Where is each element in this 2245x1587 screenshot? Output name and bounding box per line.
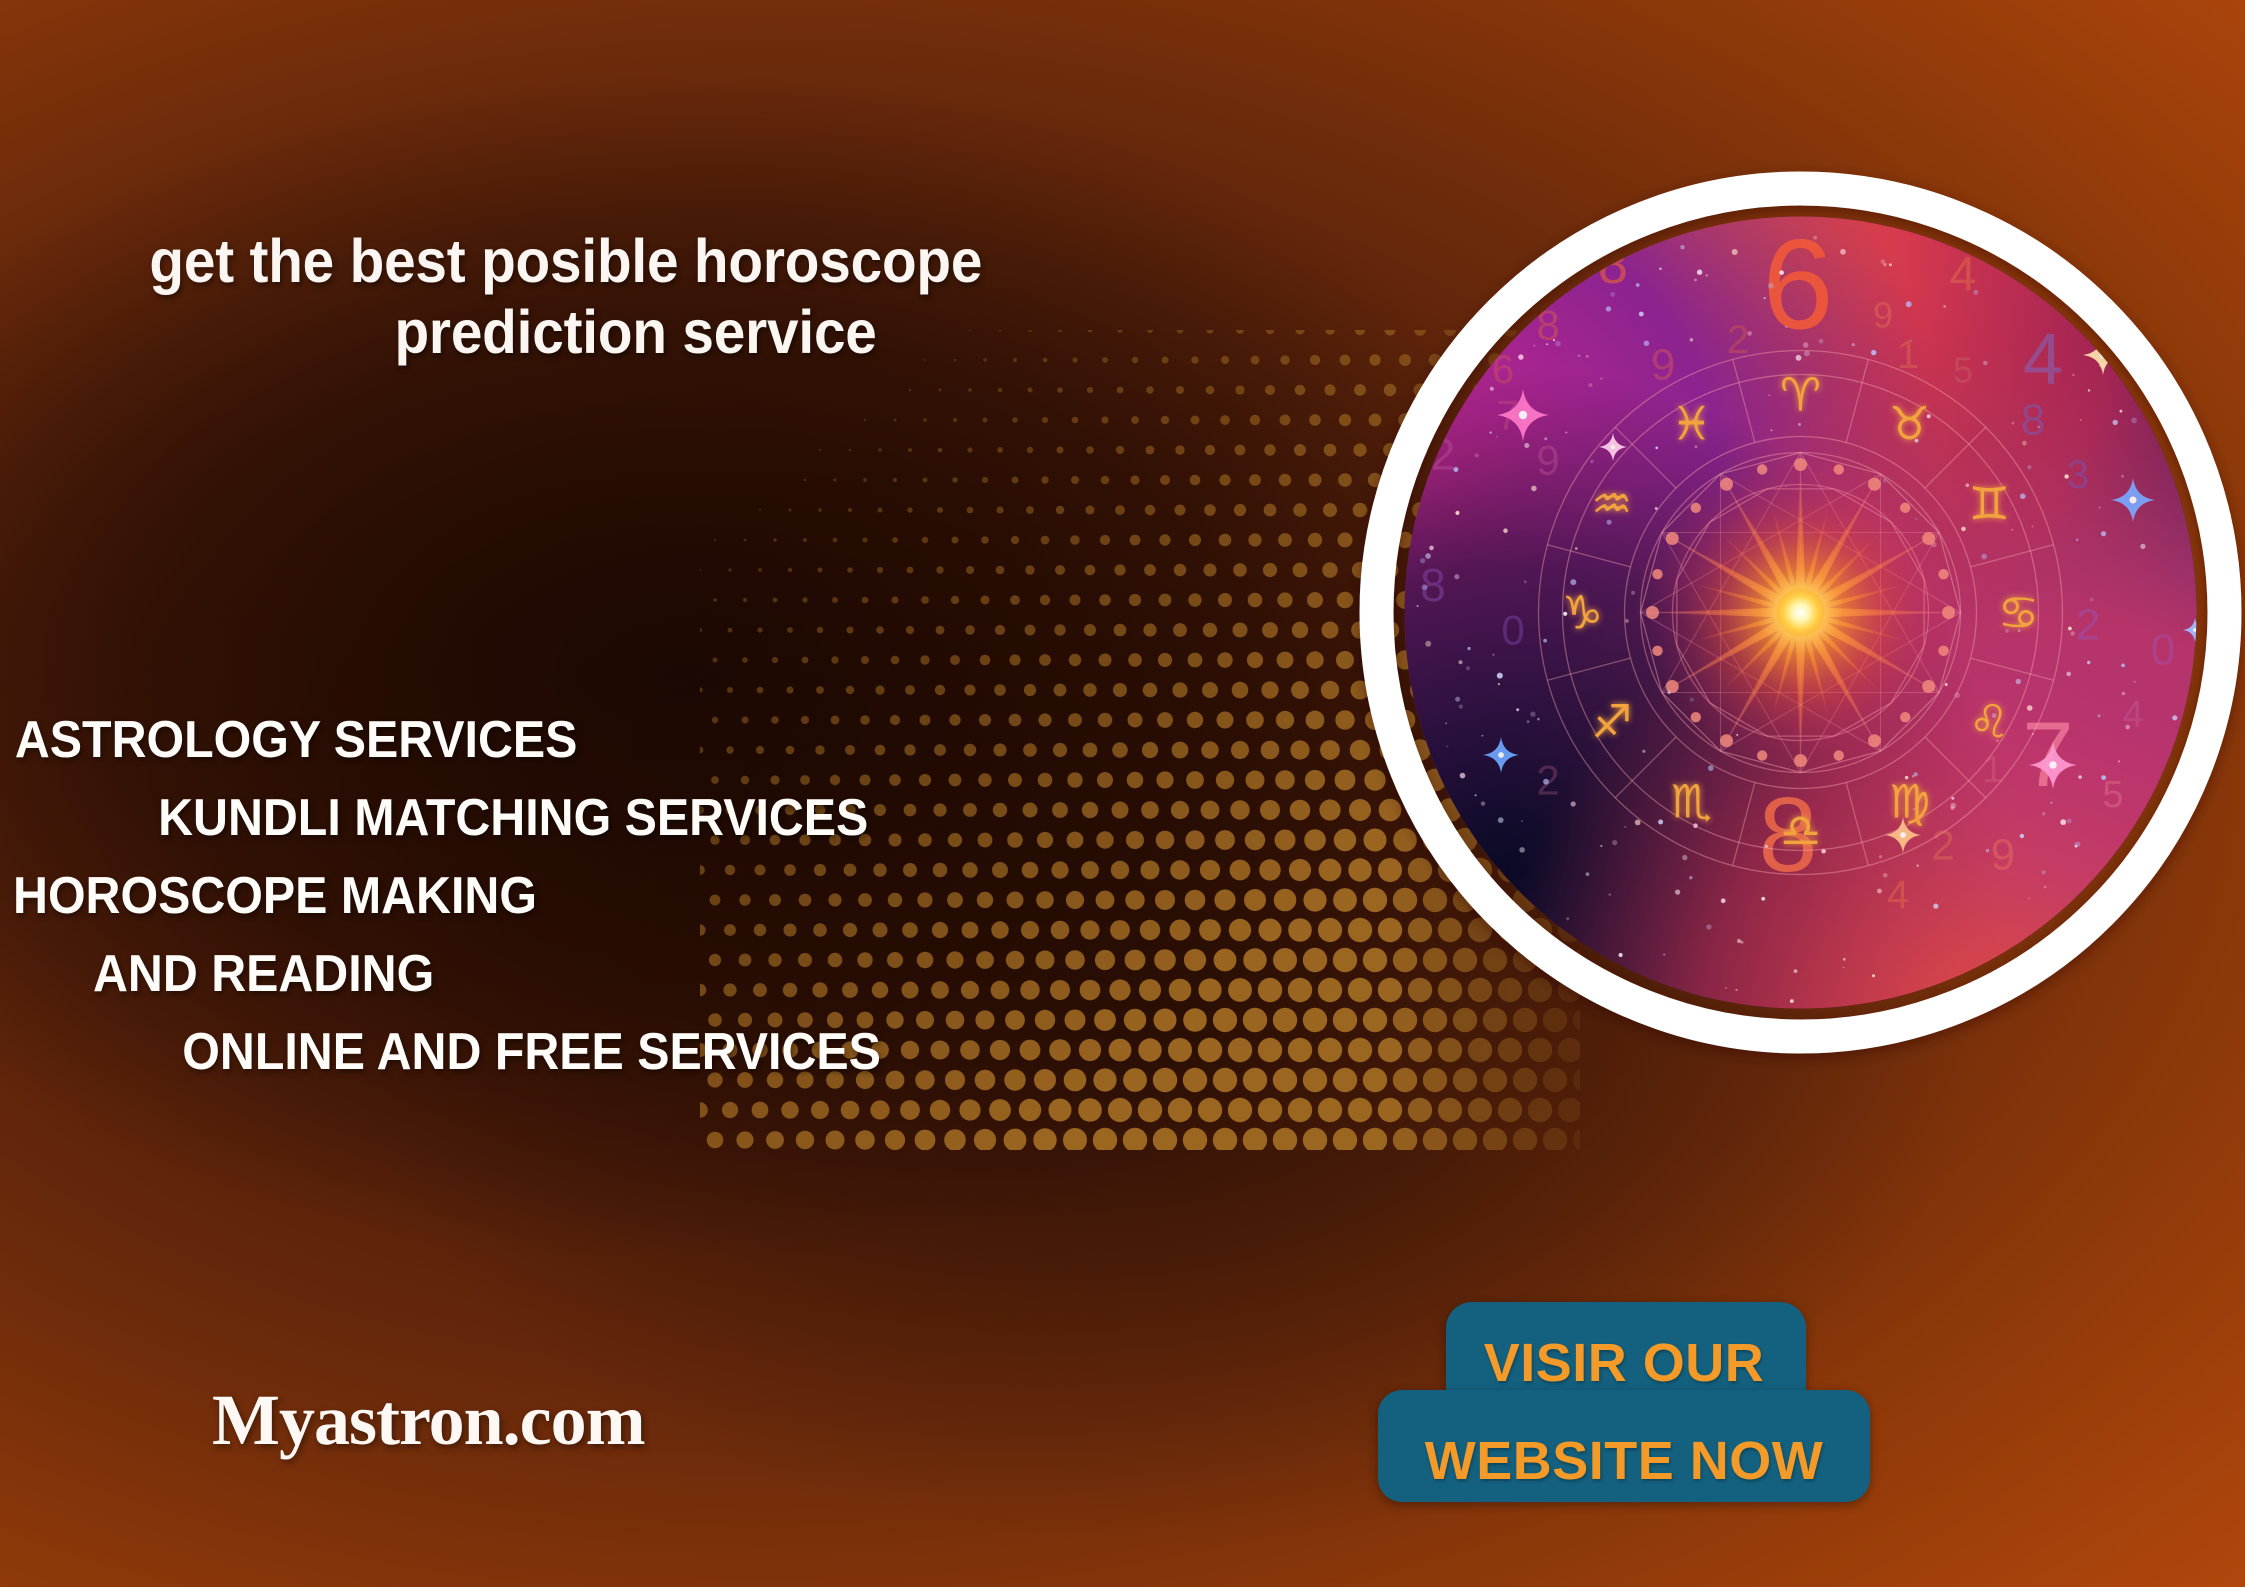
service-item-horoscope-making: HOROSCOPE MAKING bbox=[0, 870, 1042, 922]
zodiac-glyph-aquarius: ♒ bbox=[1591, 477, 1632, 531]
svg-text:5: 5 bbox=[1953, 350, 1973, 391]
zodiac-wheel: 86489216954782938020217829454 bbox=[1343, 155, 2245, 1070]
svg-text:4: 4 bbox=[1950, 249, 1977, 302]
zodiac-glyph-pisces: ♓ bbox=[1671, 397, 1712, 451]
zodiac-glyph-cancer: ♋ bbox=[1998, 586, 2039, 640]
zodiac-glyph-sagittarius: ♐ bbox=[1591, 695, 1632, 749]
zodiac-glyph-virgo: ♍ bbox=[1889, 774, 1930, 828]
zodiac-glyph-leo: ♌ bbox=[1969, 695, 2010, 749]
zodiac-glyph-libra: ♎ bbox=[1780, 804, 1821, 858]
wheel-sun-core bbox=[1777, 589, 1825, 637]
headline-line-1: get the best posible horoscope bbox=[52, 226, 1080, 297]
svg-text:6: 6 bbox=[1492, 348, 1514, 392]
svg-text:8: 8 bbox=[1536, 302, 1559, 349]
svg-text:9: 9 bbox=[1536, 437, 1559, 484]
visit-website-button[interactable]: VISIR OUR WEBSITE NOW bbox=[1378, 1302, 1870, 1502]
zodiac-glyph-gemini: ♊ bbox=[1969, 477, 2010, 531]
horoscope-banner: get the best posible horoscope predictio… bbox=[0, 0, 2245, 1587]
svg-text:1: 1 bbox=[1982, 749, 2003, 791]
brand-logo-text: Myastron.com bbox=[212, 1384, 645, 1456]
headline-line-2: prediction service bbox=[52, 297, 1080, 368]
svg-text:2: 2 bbox=[1431, 431, 1455, 480]
service-item-online-and-free-services: ONLINE AND FREE SERVICES bbox=[0, 1026, 1042, 1078]
cta-label-line-2: WEBSITE NOW bbox=[1378, 1434, 1870, 1488]
svg-text:0: 0 bbox=[1501, 607, 1524, 654]
svg-text:2: 2 bbox=[1727, 318, 1749, 362]
svg-text:3: 3 bbox=[2067, 453, 2089, 497]
svg-text:4: 4 bbox=[2122, 694, 2143, 736]
svg-text:2: 2 bbox=[2076, 601, 2100, 650]
svg-text:9: 9 bbox=[1651, 341, 1675, 390]
zodiac-glyph-aries: ♈ bbox=[1780, 368, 1821, 422]
zodiac-wheel-graphic: 86489216954782938020217829454 bbox=[1343, 155, 2245, 1070]
svg-text:9: 9 bbox=[1991, 831, 2015, 880]
page-title: get the best posible horoscope predictio… bbox=[52, 226, 1080, 368]
cta-label-line-1: VISIR OUR bbox=[1378, 1336, 1870, 1390]
zodiac-glyph-capricorn: ♑ bbox=[1562, 586, 1603, 640]
service-item-astrology-services: ASTROLOGY SERVICES bbox=[0, 714, 1042, 766]
svg-text:5: 5 bbox=[2102, 774, 2123, 816]
zodiac-glyph-scorpio: ♏ bbox=[1671, 774, 1712, 828]
service-item-and-reading: AND READING bbox=[0, 948, 1042, 1000]
svg-text:4: 4 bbox=[2023, 320, 2063, 400]
wheel-disc: 86489216954782938020217829454 bbox=[1343, 155, 2245, 1070]
service-item-kundli-matching-services: KUNDLI MATCHING SERVICES bbox=[0, 792, 1042, 844]
svg-text:8: 8 bbox=[2021, 396, 2045, 445]
svg-text:9: 9 bbox=[1873, 295, 1893, 336]
svg-text:4: 4 bbox=[1887, 873, 1909, 917]
svg-text:2: 2 bbox=[1931, 822, 1954, 869]
zodiac-glyph-taurus: ♉ bbox=[1889, 397, 1930, 451]
services-list: ASTROLOGY SERVICES KUNDLI MATCHING SERVI… bbox=[0, 714, 1120, 1104]
svg-text:0: 0 bbox=[2151, 626, 2175, 675]
